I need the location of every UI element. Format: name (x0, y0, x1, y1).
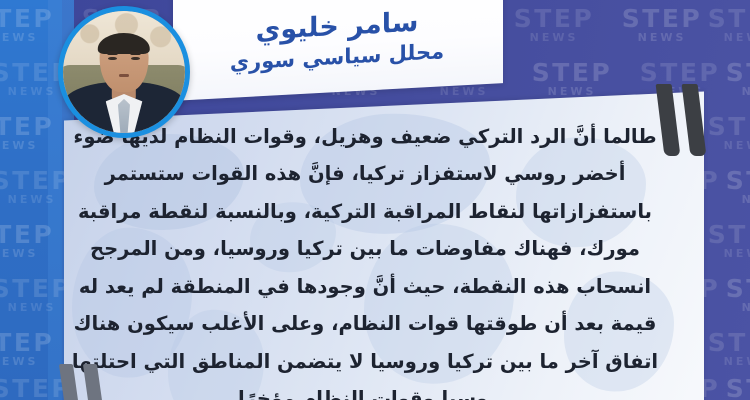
quote-mark-close-icon (58, 364, 116, 400)
avatar (58, 6, 190, 138)
quote-mark-open-icon (654, 84, 716, 156)
quote-text: طالما أنَّ الرد التركي ضعيف وهزيل، وقوات… (70, 118, 660, 400)
quote-card: STEPNEWSSTEPNEWSSTEPNEWSSTEPNEWSSTEPNEWS… (0, 0, 750, 400)
